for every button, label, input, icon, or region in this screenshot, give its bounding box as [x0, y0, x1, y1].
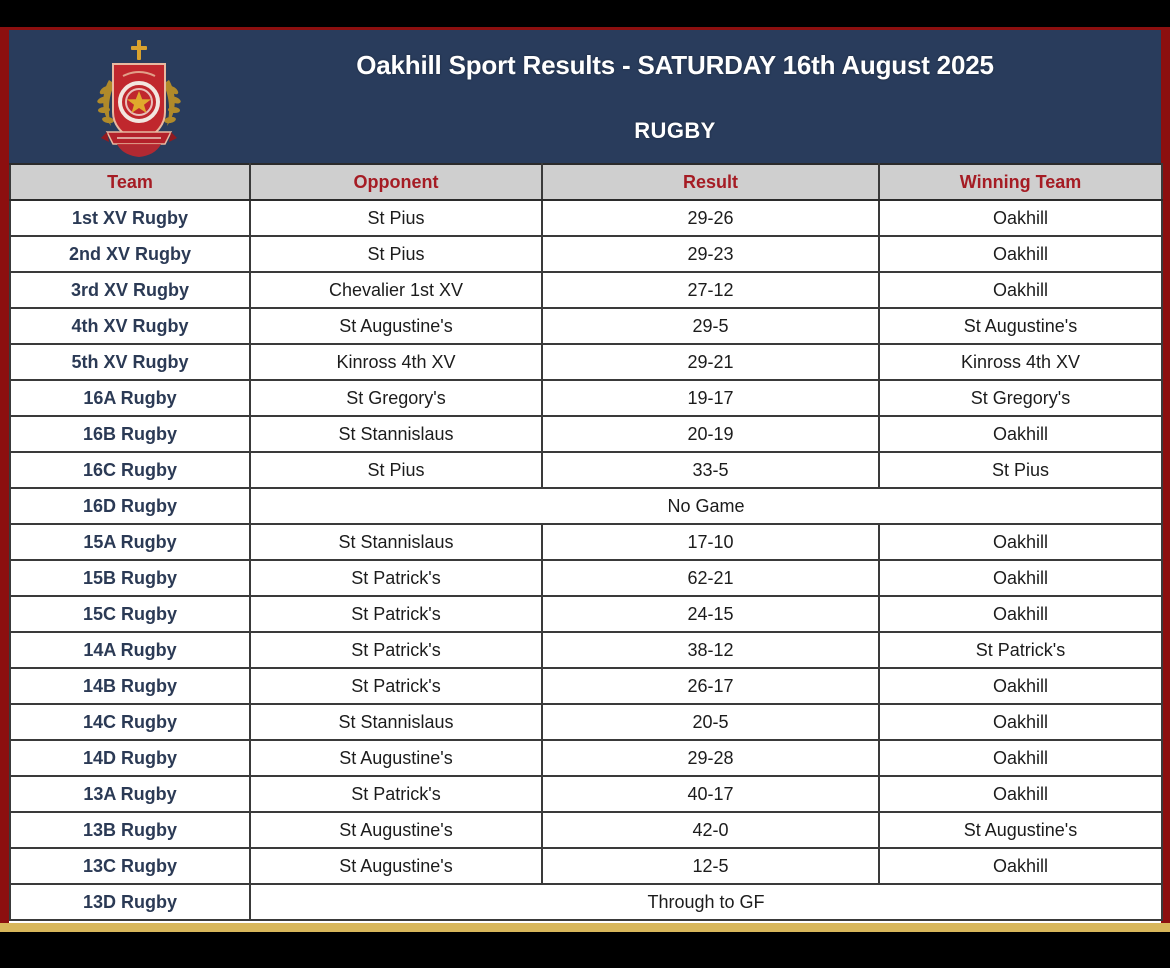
cell-winning-team: Oakhill — [879, 272, 1162, 308]
cell-winning-team: Oakhill — [879, 560, 1162, 596]
cell-winning-team: St Patrick's — [879, 632, 1162, 668]
cell-team: 15C Rugby — [10, 596, 250, 632]
cell-team: 16A Rugby — [10, 380, 250, 416]
table-row[interactable]: 16B RugbySt Stannislaus20-19Oakhill — [10, 416, 1162, 452]
bottom-letterbox-bar — [0, 932, 1170, 968]
cell-team: 13A Rugby — [10, 776, 250, 812]
cell-note: No Game — [250, 488, 1162, 524]
cell-winning-team: Oakhill — [879, 236, 1162, 272]
table-row[interactable]: 14B RugbySt Patrick's26-17Oakhill — [10, 668, 1162, 704]
cell-team: 14D Rugby — [10, 740, 250, 776]
table-row[interactable]: 16C RugbySt Pius33-5St Pius — [10, 452, 1162, 488]
table-row[interactable]: 13C RugbySt Augustine's12-5Oakhill — [10, 848, 1162, 884]
cell-team: 1st XV Rugby — [10, 200, 250, 236]
cell-opponent: St Stannislaus — [250, 416, 542, 452]
cell-result: 29-5 — [542, 308, 879, 344]
table-row[interactable]: 13A RugbySt Patrick's40-17Oakhill — [10, 776, 1162, 812]
cell-winning-team: St Augustine's — [879, 812, 1162, 848]
cell-opponent: St Patrick's — [250, 596, 542, 632]
table-row[interactable]: 15C RugbySt Patrick's24-15Oakhill — [10, 596, 1162, 632]
cell-team: 14C Rugby — [10, 704, 250, 740]
results-table: Team Opponent Result Winning Team 1st XV… — [9, 163, 1163, 921]
cell-team: 16C Rugby — [10, 452, 250, 488]
table-row[interactable]: 2nd XV RugbySt Pius29-23Oakhill — [10, 236, 1162, 272]
oakhill-crest-icon — [87, 38, 191, 158]
cell-opponent: St Patrick's — [250, 632, 542, 668]
cell-opponent: St Gregory's — [250, 380, 542, 416]
cell-team: 3rd XV Rugby — [10, 272, 250, 308]
cell-team: 16B Rugby — [10, 416, 250, 452]
cell-result: 29-21 — [542, 344, 879, 380]
cell-winning-team: Oakhill — [879, 848, 1162, 884]
cell-opponent: St Pius — [250, 200, 542, 236]
sport-subtitle: RUGBY — [199, 118, 1151, 144]
cell-result: 29-26 — [542, 200, 879, 236]
cell-opponent: St Augustine's — [250, 740, 542, 776]
cell-team: 16D Rugby — [10, 488, 250, 524]
cell-opponent: St Augustine's — [250, 812, 542, 848]
cell-team: 5th XV Rugby — [10, 344, 250, 380]
table-row[interactable]: 4th XV RugbySt Augustine's29-5St Augusti… — [10, 308, 1162, 344]
cell-winning-team: St Gregory's — [879, 380, 1162, 416]
column-header-result[interactable]: Result — [542, 164, 879, 200]
table-row[interactable]: 5th XV RugbyKinross 4th XV29-21Kinross 4… — [10, 344, 1162, 380]
cell-result: 38-12 — [542, 632, 879, 668]
column-header-team[interactable]: Team — [10, 164, 250, 200]
cell-winning-team: Oakhill — [879, 740, 1162, 776]
cell-winning-team: Oakhill — [879, 668, 1162, 704]
cell-note: Through to GF — [250, 884, 1162, 920]
results-card: Oakhill Sport Results - SATURDAY 16th Au… — [0, 27, 1170, 926]
cell-team: 14B Rugby — [10, 668, 250, 704]
cell-winning-team: St Pius — [879, 452, 1162, 488]
cell-team: 15B Rugby — [10, 560, 250, 596]
cell-result: 20-19 — [542, 416, 879, 452]
cell-opponent: St Stannislaus — [250, 704, 542, 740]
cell-winning-team: Oakhill — [879, 200, 1162, 236]
cell-opponent: Kinross 4th XV — [250, 344, 542, 380]
column-header-opponent[interactable]: Opponent — [250, 164, 542, 200]
cell-winning-team: Oakhill — [879, 416, 1162, 452]
cell-result: 42-0 — [542, 812, 879, 848]
header-text-group: Oakhill Sport Results - SATURDAY 16th Au… — [199, 30, 1151, 163]
table-row[interactable]: 14D RugbySt Augustine's29-28Oakhill — [10, 740, 1162, 776]
cell-result: 29-28 — [542, 740, 879, 776]
cell-opponent: St Augustine's — [250, 308, 542, 344]
cell-team: 13C Rugby — [10, 848, 250, 884]
table-row[interactable]: 14C RugbySt Stannislaus20-5Oakhill — [10, 704, 1162, 740]
table-head: Team Opponent Result Winning Team — [10, 164, 1162, 200]
cell-team: 14A Rugby — [10, 632, 250, 668]
cell-team: 13D Rugby — [10, 884, 250, 920]
cell-result: 19-17 — [542, 380, 879, 416]
table-row[interactable]: 15B RugbySt Patrick's62-21Oakhill — [10, 560, 1162, 596]
cell-opponent: St Pius — [250, 452, 542, 488]
table-body: 1st XV RugbySt Pius29-26Oakhill2nd XV Ru… — [10, 200, 1162, 920]
cell-opponent: St Patrick's — [250, 560, 542, 596]
cell-winning-team: Oakhill — [879, 704, 1162, 740]
cell-opponent: Chevalier 1st XV — [250, 272, 542, 308]
poster-header: Oakhill Sport Results - SATURDAY 16th Au… — [9, 30, 1161, 163]
cell-opponent: St Patrick's — [250, 776, 542, 812]
cell-result: 33-5 — [542, 452, 879, 488]
table-row[interactable]: 16D RugbyNo Game — [10, 488, 1162, 524]
cell-result: 27-12 — [542, 272, 879, 308]
table-row[interactable]: 13B RugbySt Augustine's42-0St Augustine'… — [10, 812, 1162, 848]
cell-result: 29-23 — [542, 236, 879, 272]
cell-opponent: St Pius — [250, 236, 542, 272]
table-row[interactable]: 1st XV RugbySt Pius29-26Oakhill — [10, 200, 1162, 236]
table-row[interactable]: 13D RugbyThrough to GF — [10, 884, 1162, 920]
cell-opponent: St Augustine's — [250, 848, 542, 884]
cell-result: 62-21 — [542, 560, 879, 596]
page-title: Oakhill Sport Results - SATURDAY 16th Au… — [199, 50, 1151, 81]
cell-result: 17-10 — [542, 524, 879, 560]
column-header-winning-team[interactable]: Winning Team — [879, 164, 1162, 200]
table-row[interactable]: 14A RugbySt Patrick's38-12St Patrick's — [10, 632, 1162, 668]
cell-result: 20-5 — [542, 704, 879, 740]
top-letterbox-bar — [0, 0, 1170, 27]
cell-result: 24-15 — [542, 596, 879, 632]
cell-result: 40-17 — [542, 776, 879, 812]
cell-winning-team: Oakhill — [879, 596, 1162, 632]
table-row[interactable]: 15A RugbySt Stannislaus17-10Oakhill — [10, 524, 1162, 560]
results-poster: Oakhill Sport Results - SATURDAY 16th Au… — [0, 0, 1170, 968]
cell-result: 12-5 — [542, 848, 879, 884]
cell-team: 13B Rugby — [10, 812, 250, 848]
cell-team: 15A Rugby — [10, 524, 250, 560]
cell-opponent: St Patrick's — [250, 668, 542, 704]
cell-winning-team: Oakhill — [879, 524, 1162, 560]
cell-team: 4th XV Rugby — [10, 308, 250, 344]
cell-winning-team: Oakhill — [879, 776, 1162, 812]
table-row[interactable]: 16A RugbySt Gregory's19-17St Gregory's — [10, 380, 1162, 416]
cell-winning-team: Kinross 4th XV — [879, 344, 1162, 380]
table-header-row: Team Opponent Result Winning Team — [10, 164, 1162, 200]
cell-result: 26-17 — [542, 668, 879, 704]
cell-opponent: St Stannislaus — [250, 524, 542, 560]
cell-winning-team: St Augustine's — [879, 308, 1162, 344]
gold-accent-strip — [0, 923, 1170, 932]
table-row[interactable]: 3rd XV RugbyChevalier 1st XV27-12Oakhill — [10, 272, 1162, 308]
cell-team: 2nd XV Rugby — [10, 236, 250, 272]
